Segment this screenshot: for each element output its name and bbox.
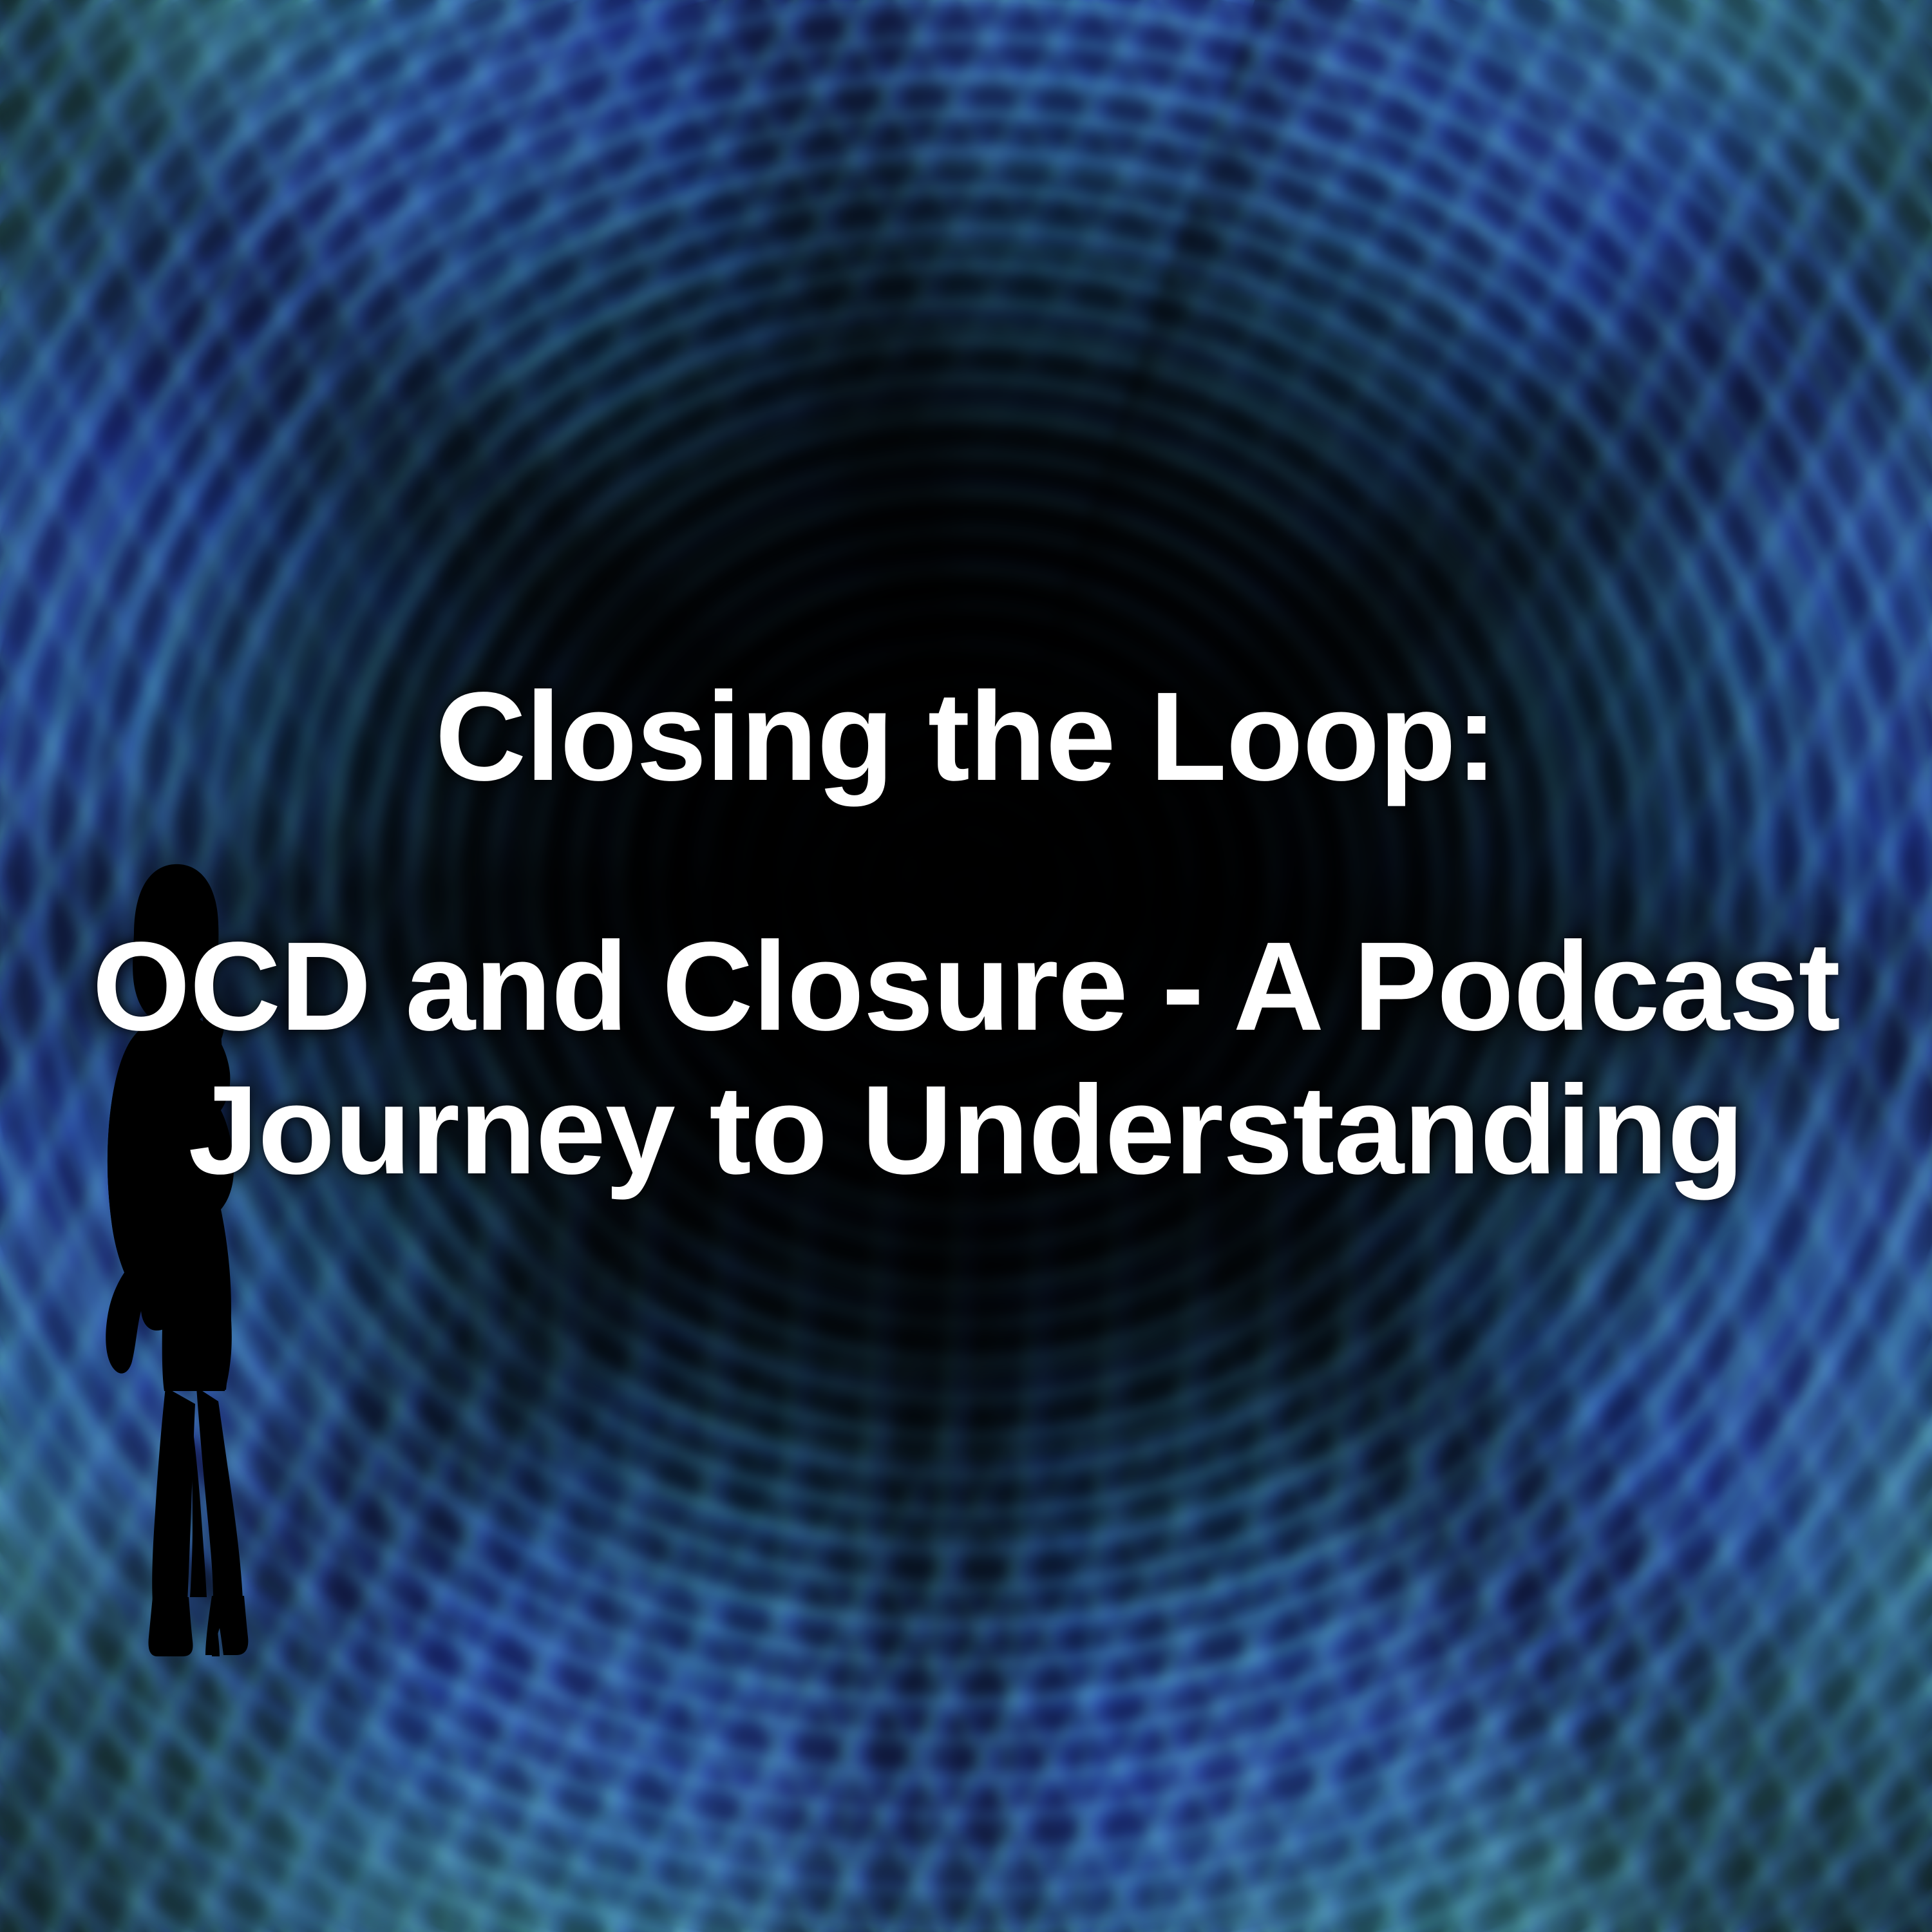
title-line-1: Closing the Loop: [0,670,1932,804]
cover-title-block: Closing the Loop: OCD and Closure - A Po… [0,670,1932,1202]
podcast-cover-art: Closing the Loop: OCD and Closure - A Po… [0,0,1932,1932]
title-line-3: Journey to Understanding [0,1058,1932,1202]
title-line-spacer [0,804,1932,914]
title-line-2: OCD and Closure - A Podcast [0,914,1932,1058]
